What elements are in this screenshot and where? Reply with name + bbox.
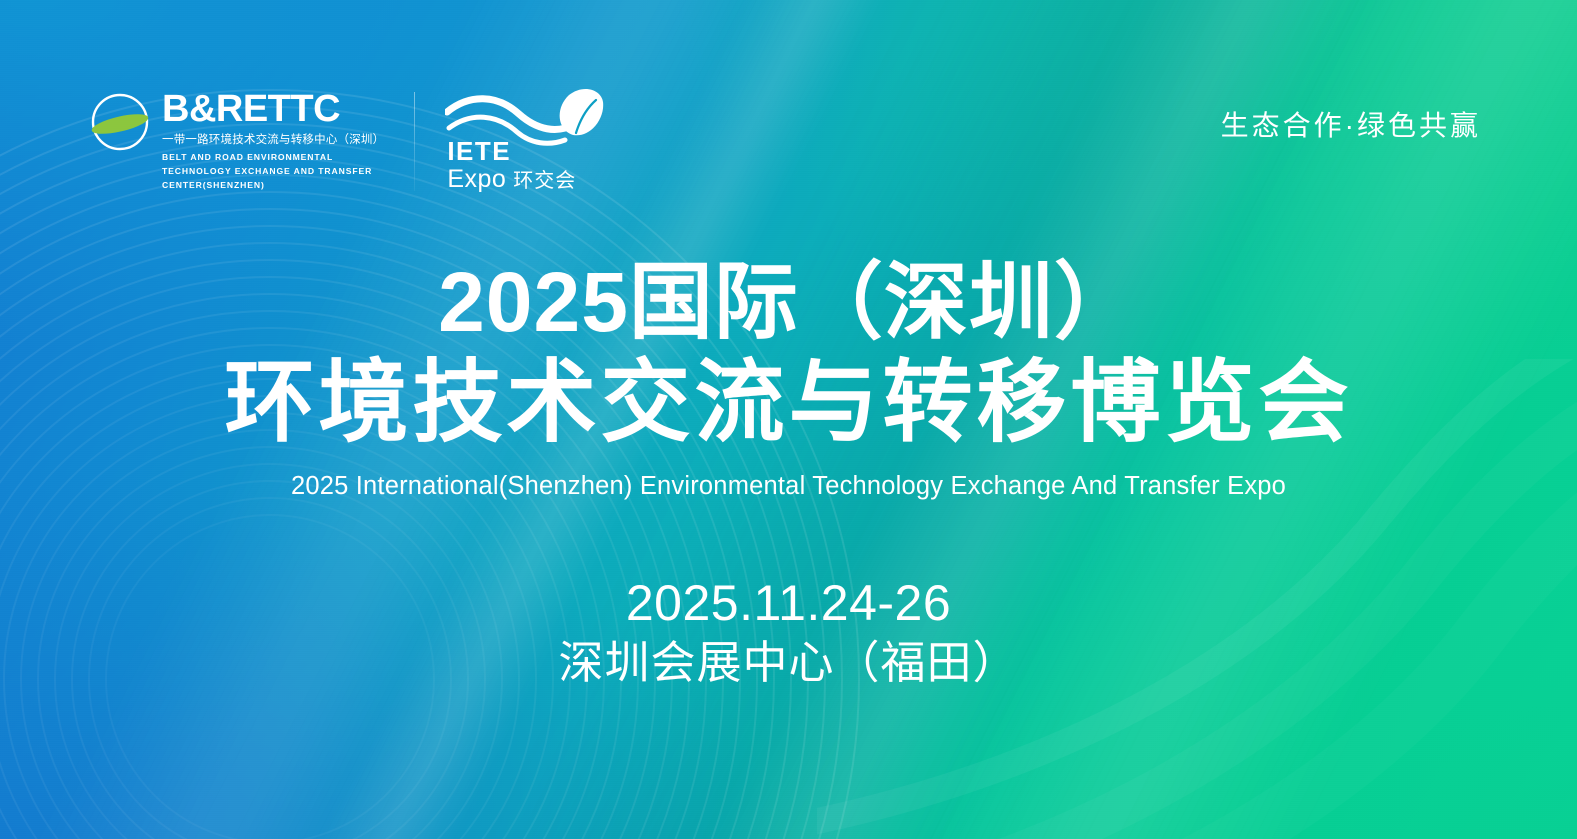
iete-acronym: IETE — [447, 138, 576, 164]
brettc-acronym: B&RETTC — [162, 90, 384, 128]
event-banner: B&RETTC 一带一路环境技术交流与转移中心（深圳） BELT AND ROA… — [0, 0, 1577, 839]
event-details: 2025.11.24-26 深圳会展中心（福田） — [0, 575, 1577, 691]
title-line-1: 2025国际（深圳） — [0, 258, 1577, 347]
iete-chinese-short: 环交会 — [513, 171, 576, 191]
title-line-2: 环境技术交流与转移博览会 — [0, 353, 1577, 454]
brettc-english-line-1: BELT AND ROAD ENVIRONMENTAL — [162, 151, 384, 163]
logo-group: B&RETTC 一带一路环境技术交流与转移中心（深圳） BELT AND ROA… — [88, 88, 607, 191]
brettc-english-line-3: CENTER(SHENZHEN) — [162, 179, 384, 191]
english-subtitle: 2025 International(Shenzhen) Environment… — [0, 472, 1577, 501]
main-content: 2025国际（深圳） 环境技术交流与转移博览会 2025 Internation… — [0, 258, 1577, 690]
logo-divider — [414, 92, 415, 191]
iete-expo-logo[interactable]: IETE Expo 环交会 — [445, 88, 607, 188]
globe-circle-icon — [88, 90, 152, 154]
brettc-logo[interactable]: B&RETTC 一带一路环境技术交流与转移中心（深圳） BELT AND ROA… — [88, 88, 384, 191]
banner-tagline: 生态合作·绿色共赢 — [1221, 104, 1481, 144]
event-date: 2025.11.24-26 — [0, 575, 1577, 633]
brettc-chinese-name: 一带一路环境技术交流与转移中心（深圳） — [162, 133, 384, 149]
event-venue: 深圳会展中心（福田） — [0, 636, 1577, 690]
iete-expo-word: Expo — [447, 167, 506, 192]
brettc-english-line-2: TECHNOLOGY EXCHANGE AND TRANSFER — [162, 165, 384, 177]
